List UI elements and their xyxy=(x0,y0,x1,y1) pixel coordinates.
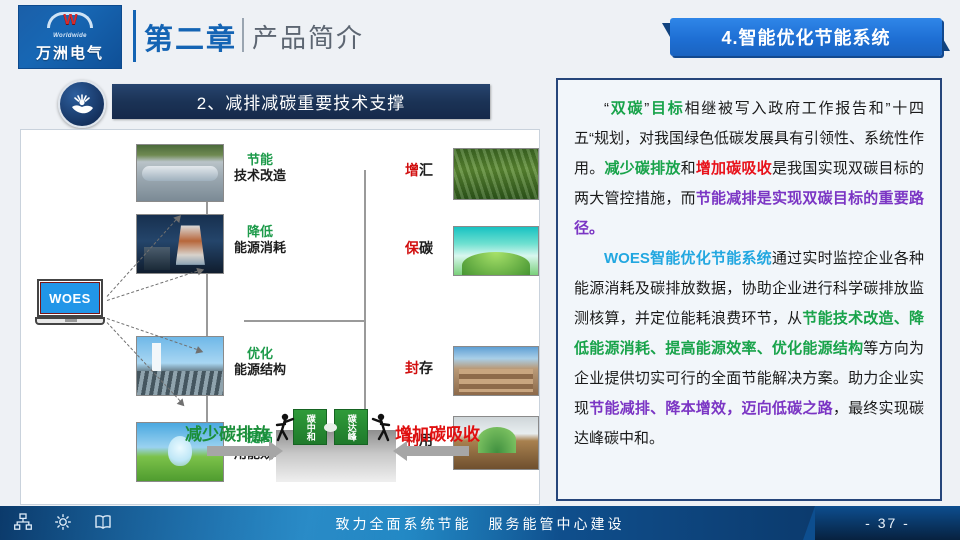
right-label-1: 增汇 xyxy=(405,162,433,180)
left-label-3: 优化 能源结构 xyxy=(234,346,286,379)
section-title-bar: 2、减排减碳重要技术支撑 xyxy=(112,84,490,119)
left-label-2: 降低 能源消耗 xyxy=(234,224,286,257)
left-photo-3 xyxy=(136,336,224,396)
woes-label: WOES xyxy=(40,282,100,314)
page-number: - 37 - xyxy=(815,506,960,540)
right-photo-1 xyxy=(453,148,539,200)
text-segment: 减少碳排放 xyxy=(604,160,680,177)
text-segment: 目标 xyxy=(649,100,684,117)
header-accent-bar xyxy=(133,10,136,62)
woes-laptop-node: WOES xyxy=(35,279,105,331)
connector-right-branch xyxy=(244,320,366,322)
logo-latin-text: Worldwide xyxy=(53,33,87,39)
connector-right-2 xyxy=(364,258,366,318)
reduce-emission-label: 减少碳排放 xyxy=(185,420,270,445)
puzzle-carbon-neutral: 碳中和 xyxy=(293,409,327,445)
description-panel: “双碳”目标相继被写入政府工作报告和”十四五“规划，对我国绿色低碳发展具有引领性… xyxy=(556,78,942,501)
left-photo-2 xyxy=(136,214,224,274)
puzzle-joint xyxy=(324,423,337,432)
left-photo-1 xyxy=(136,144,224,202)
person-right-icon xyxy=(371,412,393,444)
right-label-2: 保碳 xyxy=(405,240,433,258)
text-segment: 和 xyxy=(681,160,696,177)
text-segment: 增加碳吸收 xyxy=(696,160,772,177)
company-logo: W Worldwide 万洲电气 xyxy=(18,5,122,69)
right-photo-2 xyxy=(453,226,539,276)
technology-support-diagram: 节能 技术改造 降低 能源消耗 优化 能源结构 提高 用能效率 增汇 保碳 封存 xyxy=(20,129,540,505)
paragraph-1: “双碳”目标相继被写入政府工作报告和”十四五“规划，对我国绿色低碳发展具有引领性… xyxy=(574,94,924,244)
connector-right-1 xyxy=(364,170,366,258)
header-separator xyxy=(242,18,244,52)
reduce-arrow xyxy=(207,446,269,456)
left-label-1: 节能 技术改造 xyxy=(234,152,286,185)
person-left-icon xyxy=(273,412,295,444)
increase-arrow xyxy=(407,446,469,456)
increase-absorb-label: 增加碳吸收 xyxy=(395,420,480,445)
chapter-title: 第二章 xyxy=(144,16,237,58)
text-segment: 节能减排、降本增效，迈向低碳之路 xyxy=(589,400,833,417)
logo-letter: W xyxy=(47,11,93,28)
page-subtitle: 产品简介 xyxy=(252,18,364,55)
topic-banner: 4.智能优化节能系统 xyxy=(670,18,942,56)
paragraph-2: WOES智能优化节能系统通过实时监控企业各种能源消耗及碳排放数据，协助企业进行科… xyxy=(574,244,924,454)
logo-company-name: 万洲电气 xyxy=(36,42,104,63)
right-label-3: 封存 xyxy=(405,360,433,378)
text-segment: WOES智能优化节能系统 xyxy=(604,250,772,267)
puzzle-carbon-peak: 碳达峰 xyxy=(334,409,368,445)
hand-leaf-icon xyxy=(58,80,106,128)
right-photo-3 xyxy=(453,346,539,396)
slide-root: W Worldwide 万洲电气 第二章 产品简介 4.智能优化节能系统 2、减… xyxy=(0,0,960,540)
logo-emblem-icon: W xyxy=(47,12,93,32)
footer-bar: 致力全面系统节能 服务能管中心建设 - 37 - xyxy=(0,506,960,540)
text-segment: 双碳 xyxy=(609,100,644,117)
